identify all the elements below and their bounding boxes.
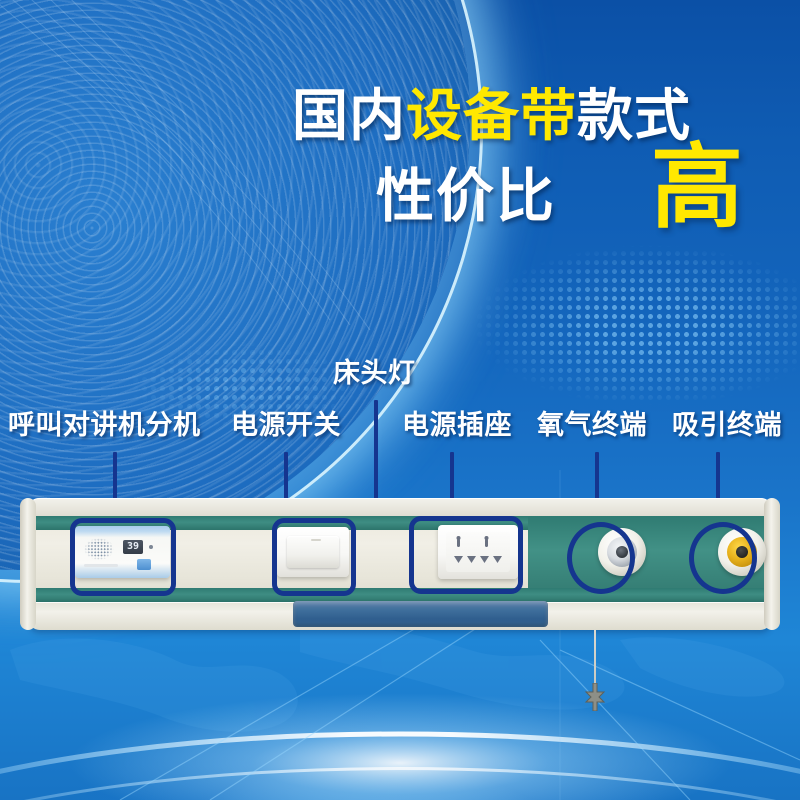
highlight-box-power-switch — [272, 518, 356, 596]
panel-end-cap-right — [764, 498, 780, 630]
callout-label-oxygen: 氧气终端 — [537, 412, 647, 439]
dotted-world-map-pattern — [430, 240, 800, 425]
highlight-box-suction — [689, 522, 757, 594]
highlight-box-power-socket — [409, 516, 523, 594]
callout-label-power-socket: 电源插座 — [402, 412, 512, 439]
callout-label-suction: 吸引终端 — [672, 412, 782, 439]
world-map-silhouette — [0, 620, 800, 800]
callout-label-intercom: 呼叫对讲机分机 — [8, 412, 201, 439]
highlight-box-oxygen — [567, 522, 635, 594]
panel-end-cap-left — [20, 498, 36, 630]
product-banner: 国内设备带款式 性价比 高 呼叫对讲机分机 电源开关 床头灯 电源插座 氧气终端… — [0, 0, 800, 800]
callout-label-bedside-lamp: 床头灯 — [333, 360, 416, 387]
highlight-box-intercom — [70, 518, 176, 596]
callout-label-power-switch: 电源开关 — [231, 412, 341, 439]
cord-end-fitting-icon — [580, 683, 610, 711]
bedside-lamp-diffuser[interactable] — [293, 601, 548, 627]
